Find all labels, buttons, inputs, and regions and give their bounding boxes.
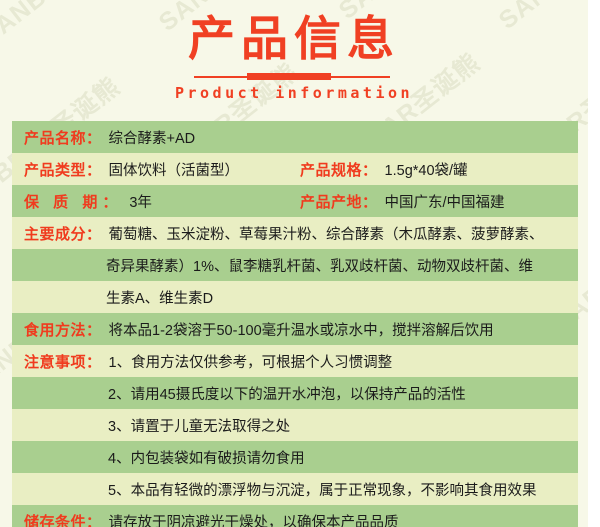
- product-info-table: 产品名称： 综合酵素+AD 产品类型： 固体饮料（活菌型） 产品规格： 1.5g…: [12, 121, 578, 527]
- page-header: 产品信息 Product information: [0, 0, 588, 118]
- value-note-1: 1、食用方法仅供参考，可根据个人习惯调整: [102, 351, 393, 372]
- value-storage: 请存放于阴凉避光干燥处，以确保本产品品质: [102, 511, 578, 527]
- table-row-storage: 储存条件： 请存放于阴凉避光干燥处，以确保本产品品质: [12, 505, 578, 527]
- value-product-name: 综合酵素+AD: [102, 127, 578, 148]
- value-ingredients-line-2: 奇异果酵素）1%、鼠李糖乳杆菌、乳双歧杆菌、动物双歧杆菌、维: [12, 255, 533, 276]
- table-row-note-2: 2、请用45摄氏度以下的温开水冲泡，以保持产品的活性: [12, 377, 578, 409]
- value-note-4: 4、内包装袋如有破损请勿食用: [12, 447, 305, 468]
- product-info-page: SANBEAR圣诞熊 SANBEAR圣诞熊 SANBEAR圣诞熊 SANBEAR…: [0, 0, 600, 527]
- value-product-spec: 1.5g*40袋/罐: [378, 159, 578, 180]
- table-row-ingredients-line-3: 生素A、维生素D: [12, 281, 578, 313]
- cell-product-spec: 产品规格： 1.5g*40袋/罐: [300, 159, 578, 180]
- value-origin: 中国广东/中国福建: [378, 191, 578, 212]
- cell-origin: 产品产地： 中国广东/中国福建: [300, 191, 578, 212]
- table-row-note-5: 5、本品有轻微的漂浮物与沉淀，属于正常现象，不影响其食用效果: [12, 473, 578, 505]
- value-shelf-life: 3年: [122, 191, 300, 212]
- table-row-product-name: 产品名称： 综合酵素+AD: [12, 121, 578, 153]
- label-product-spec: 产品规格：: [300, 159, 378, 180]
- table-row-note-4: 4、内包装袋如有破损请勿食用: [12, 441, 578, 473]
- label-storage: 储存条件：: [12, 511, 102, 527]
- value-note-3: 3、请置于儿童无法取得之处: [12, 415, 290, 436]
- table-row-shelflife-origin: 保 质 期： 3年 产品产地： 中国广东/中国福建: [12, 185, 578, 217]
- value-note-5: 5、本品有轻微的漂浮物与沉淀，属于正常现象，不影响其食用效果: [12, 479, 537, 500]
- table-row-usage: 食用方法： 将本品1-2袋溶于50-100毫升温水或凉水中，搅拌溶解后饮用: [12, 313, 578, 345]
- title-rule-center: [247, 73, 331, 80]
- value-ingredients-line-1: 葡萄糖、玉米淀粉、草莓果汁粉、综合酵素（木瓜酵素、菠萝酵素、: [102, 223, 578, 244]
- cell-product-type: 产品类型： 固体饮料（活菌型）: [12, 159, 300, 180]
- table-row-note-3: 3、请置于儿童无法取得之处: [12, 409, 578, 441]
- value-ingredients-line-3: 生素A、维生素D: [12, 287, 213, 308]
- table-row-ingredients-line-1: 主要成分： 葡萄糖、玉米淀粉、草莓果汁粉、综合酵素（木瓜酵素、菠萝酵素、: [12, 217, 578, 249]
- cell-shelf-life: 保 质 期： 3年: [12, 191, 300, 212]
- table-row-note-1: 注意事项： 1、食用方法仅供参考，可根据个人习惯调整: [12, 345, 578, 377]
- label-origin: 产品产地：: [300, 191, 378, 212]
- label-ingredients: 主要成分：: [12, 223, 102, 244]
- label-shelf-life: 保 质 期：: [12, 191, 122, 212]
- table-row-type-spec: 产品类型： 固体饮料（活菌型） 产品规格： 1.5g*40袋/罐: [12, 153, 578, 185]
- label-usage: 食用方法：: [12, 319, 102, 340]
- page-title: 产品信息: [0, 14, 588, 63]
- value-product-type: 固体饮料（活菌型）: [102, 159, 300, 180]
- value-usage: 将本品1-2袋溶于50-100毫升温水或凉水中，搅拌溶解后饮用: [102, 319, 578, 340]
- label-product-name: 产品名称：: [12, 127, 102, 148]
- value-note-2: 2、请用45摄氏度以下的温开水冲泡，以保持产品的活性: [12, 383, 466, 404]
- page-canvas: SANBEAR圣诞熊 SANBEAR圣诞熊 SANBEAR圣诞熊 SANBEAR…: [0, 0, 588, 527]
- table-row-ingredients-line-2: 奇异果酵素）1%、鼠李糖乳杆菌、乳双歧杆菌、动物双歧杆菌、维: [12, 249, 578, 281]
- label-notes: 注意事项：: [12, 351, 102, 372]
- page-subtitle: Product information: [0, 84, 588, 102]
- label-product-type: 产品类型：: [12, 159, 102, 180]
